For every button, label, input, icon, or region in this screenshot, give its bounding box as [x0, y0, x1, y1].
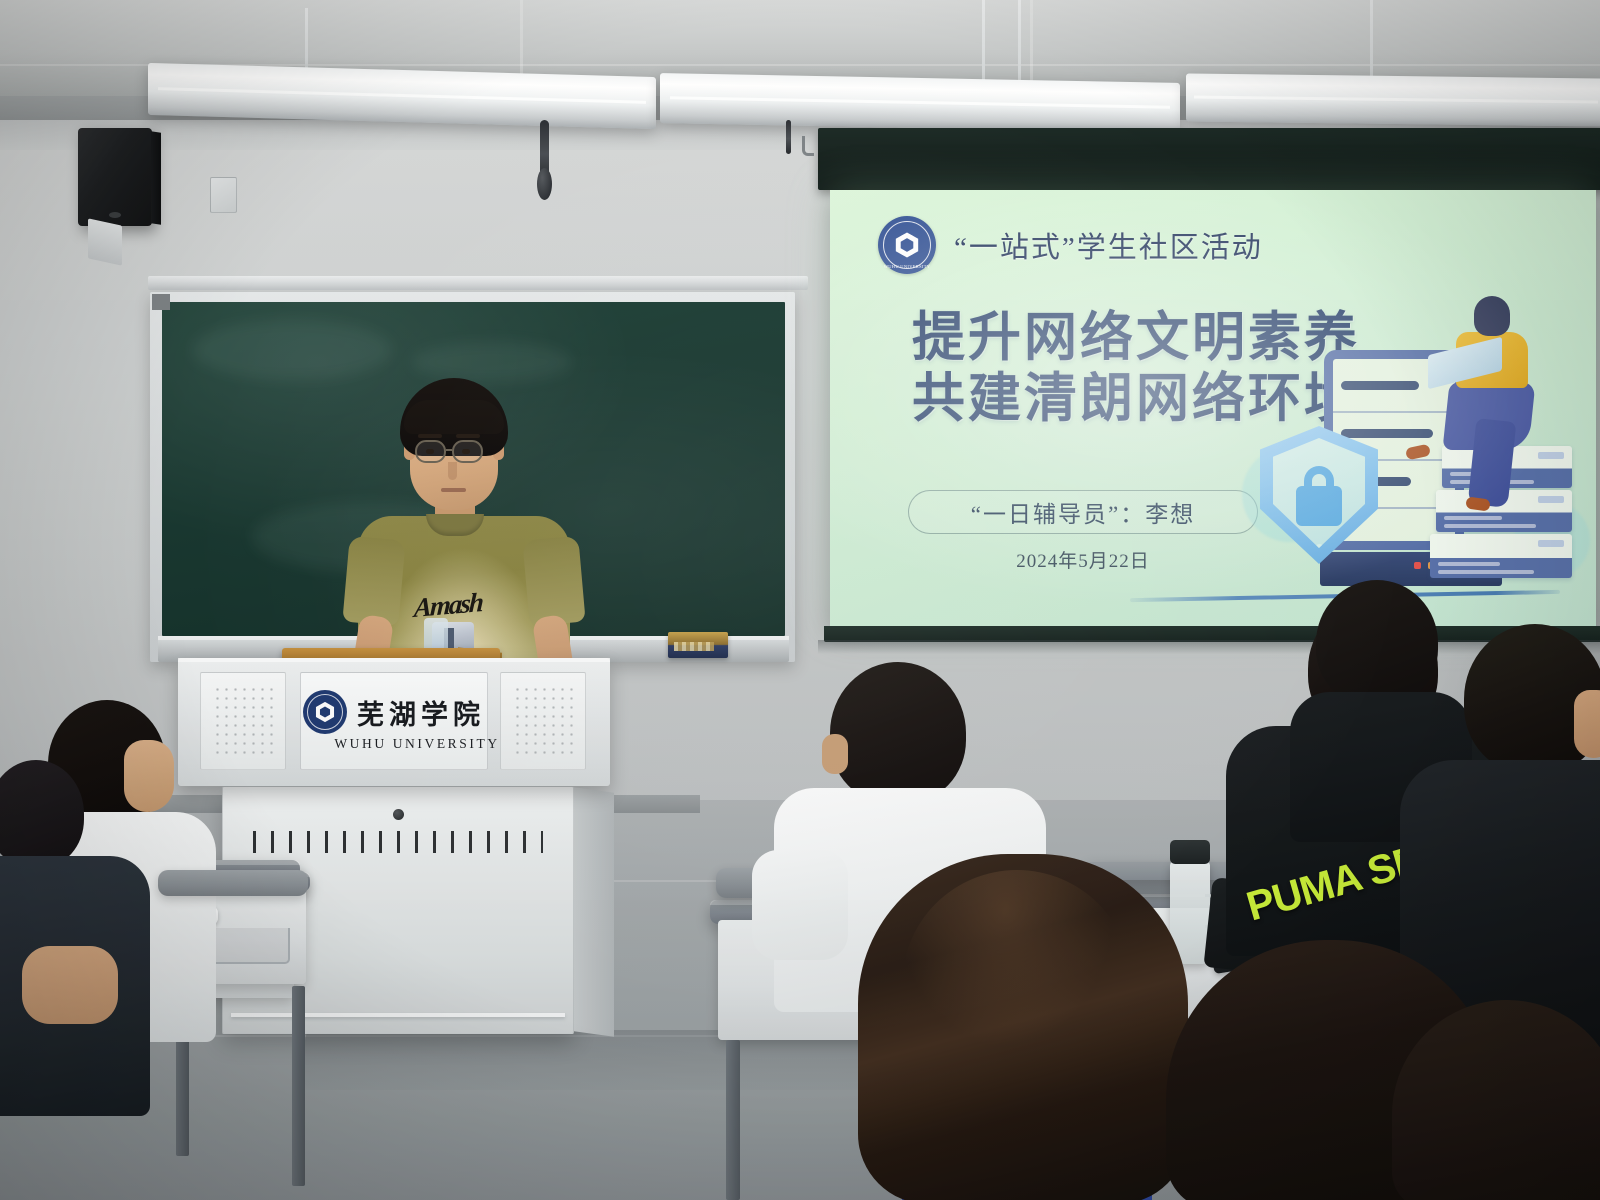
student-hair [830, 662, 966, 804]
chalkboard-corner-clip [152, 294, 170, 310]
hanging-cord [786, 120, 791, 154]
podium-base-side [574, 787, 614, 1037]
card-line [1438, 570, 1534, 574]
podium-grille-right [500, 672, 586, 770]
presenter-eye-left [426, 449, 434, 454]
classroom-photo-scene: WUHU UNIVERSITY “一站式”学生社区活动 提升网络文明素养 共建清… [0, 0, 1600, 1200]
light-suspension-rod [1370, 0, 1373, 78]
student-hair [1316, 580, 1438, 706]
person-hair [1474, 296, 1510, 336]
card-tag [1538, 452, 1564, 459]
light-suspension-rod [982, 0, 985, 84]
light-suspension-rod [1018, 0, 1021, 80]
card-tag [1538, 540, 1564, 547]
screen-mount-hook [802, 136, 814, 156]
padlock-body-icon [1296, 486, 1342, 526]
presenter-eyebrow-left [418, 434, 442, 438]
presenter-eyebrow-right [456, 434, 480, 438]
grille-pattern [213, 685, 273, 757]
projection-screen-assembly: WUHU UNIVERSITY “一站式”学生社区活动 提升网络文明素养 共建清… [818, 128, 1600, 658]
podium-ventilation-slots [253, 831, 543, 853]
plaque-chinese-name: 芜湖学院 [357, 693, 485, 732]
slide-date: 2024年5月22日 [908, 546, 1258, 573]
slide-presenter-pill: “一日辅导员”：李想 [908, 490, 1258, 534]
hanging-cord-weight [537, 168, 552, 200]
stacked-card [1430, 534, 1572, 578]
slide-subtitle: “一站式”学生社区活动 [954, 224, 1263, 266]
chalk-smudge [412, 342, 572, 382]
plaque-english-name: WUHU UNIVERSITY [334, 736, 499, 752]
desk-leg [726, 1040, 740, 1200]
student-arm [22, 946, 118, 1024]
chair-backrest [158, 870, 308, 896]
presentation-slide: WUHU UNIVERSITY “一站式”学生社区活动 提升网络文明素养 共建清… [830, 190, 1596, 626]
shield-inner [1273, 438, 1365, 548]
ceiling-light-fixture [1186, 73, 1600, 126]
document-line [1341, 429, 1433, 438]
document-separator [1333, 411, 1455, 413]
plaque-row: 芜湖学院 [303, 690, 485, 734]
presenter-sleeve-right [522, 536, 585, 627]
slide-illustration [1260, 270, 1580, 600]
student-ear [822, 734, 848, 774]
document-line [1341, 381, 1419, 390]
wall-switch-plate[interactable] [210, 177, 237, 213]
speaker-logo-dot [109, 212, 121, 218]
emblem-arc-text: WUHU UNIVERSITY [878, 264, 936, 269]
chalk-smudge [192, 320, 392, 380]
chalkboard-top-rail [148, 276, 808, 290]
card-line [1444, 524, 1536, 528]
student-face-profile [1574, 690, 1600, 758]
light-suspension-rod [305, 8, 308, 74]
padlock-keyhole [1315, 544, 1324, 553]
wuhu-university-emblem-icon [303, 690, 347, 734]
presenter-person: Amash [338, 378, 588, 668]
student-hair [0, 760, 84, 868]
card-line [1444, 516, 1502, 520]
presenter-sleeve-left [342, 536, 405, 627]
projection-screen-surface: WUHU UNIVERSITY “一站式”学生社区活动 提升网络文明素养 共建清… [830, 190, 1596, 626]
ceiling-light-fixture [660, 73, 1180, 133]
card-tag [1538, 496, 1564, 503]
speaker-mount-bracket [88, 218, 122, 265]
wall-speaker [78, 128, 152, 226]
podium-base-lip [231, 1013, 565, 1017]
grille-pattern [513, 685, 573, 757]
slide-header: WUHU UNIVERSITY “一站式”学生社区活动 [878, 216, 1562, 274]
student-right-foreground [1392, 1000, 1600, 1200]
wuhu-university-emblem-icon: WUHU UNIVERSITY [878, 216, 936, 274]
presenter-hair-fringe [404, 400, 504, 434]
student-long-hair [1392, 1000, 1600, 1200]
presenter-nose [448, 462, 457, 480]
projection-screen-case [818, 128, 1600, 190]
podium-university-plaque: 芜湖学院 WUHU UNIVERSITY [300, 672, 488, 770]
presenter-shirt-graphic-text: Amash [413, 587, 482, 624]
podium-front-panel: 芜湖学院 WUHU UNIVERSITY [178, 658, 610, 786]
chalk-eraser-box[interactable] [668, 632, 728, 658]
presenter-mouth [441, 488, 466, 492]
presenter-eye-right [462, 449, 470, 454]
student-long-hair-1 [846, 854, 1206, 1200]
podium-grille-left [200, 672, 286, 770]
speaker-side-panel [151, 131, 161, 225]
card-line [1438, 562, 1500, 566]
server-led [1414, 562, 1421, 569]
student-arm-sleeve [752, 850, 848, 960]
student-left-dark [0, 760, 140, 1060]
podium-base-knob[interactable] [393, 809, 404, 820]
glasses-bridge [446, 449, 452, 451]
desk-leg [292, 986, 305, 1186]
